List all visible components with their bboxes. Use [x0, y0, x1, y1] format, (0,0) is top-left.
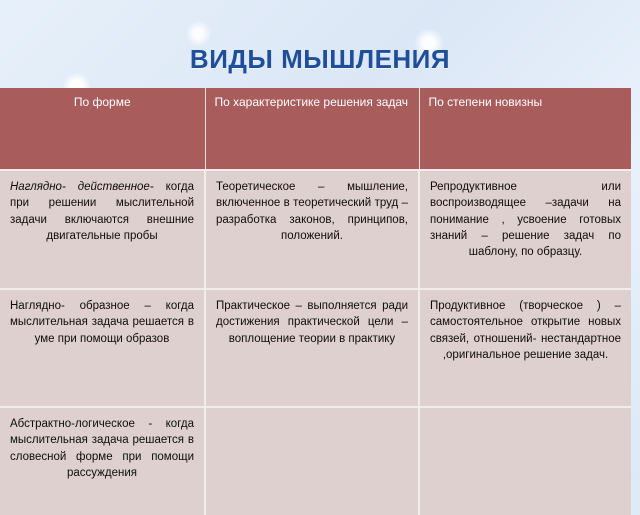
table-row: Наглядно- образное – когда мыслительная … — [0, 289, 631, 407]
cell-form-visual-figurative: Наглядно- образное – когда мыслительная … — [0, 289, 205, 407]
column-header-form: По форме — [0, 88, 205, 170]
cell-form-abstract-logical: Абстрактно-логическое - когда мыслительн… — [0, 407, 205, 515]
table-row: Абстрактно-логическое - когда мыслительн… — [0, 407, 631, 515]
table-header-row: По форме По характеристике решения задач… — [0, 88, 631, 170]
cell-solution-theoretical: Теоретическое – мышление, включенное в т… — [205, 170, 419, 289]
table-header: По форме По характеристике решения задач… — [0, 88, 631, 170]
cell-lead-text: Наглядно- действенное- — [10, 181, 154, 193]
cell-empty-solution — [205, 407, 419, 515]
cell-novelty-productive: Продуктивное (творческое ) – самостоятел… — [419, 289, 631, 407]
cell-body-text: Наглядно- образное – когда мыслительная … — [10, 300, 194, 345]
cell-form-visual-active: Наглядно- действенное- когда при решении… — [0, 170, 205, 289]
cell-body-text: Абстрактно-логическое - когда мыслительн… — [10, 418, 194, 479]
cell-empty-novelty — [419, 407, 631, 515]
table-row: Наглядно- действенное- когда при решении… — [0, 170, 631, 289]
page-title: ВИДЫ МЫШЛЕНИЯ — [0, 44, 640, 75]
column-header-novelty-degree: По степени новизны — [419, 88, 631, 170]
column-header-task-solution: По характеристике решения задач — [205, 88, 419, 170]
table-body: Наглядно- действенное- когда при решении… — [0, 170, 631, 515]
cell-novelty-reproductive: Репродуктивное или воспроизводящее –зада… — [419, 170, 631, 289]
cell-solution-practical: Практическое – выполняется ради достижен… — [205, 289, 419, 407]
thinking-types-table: По форме По характеристике решения задач… — [0, 88, 631, 515]
